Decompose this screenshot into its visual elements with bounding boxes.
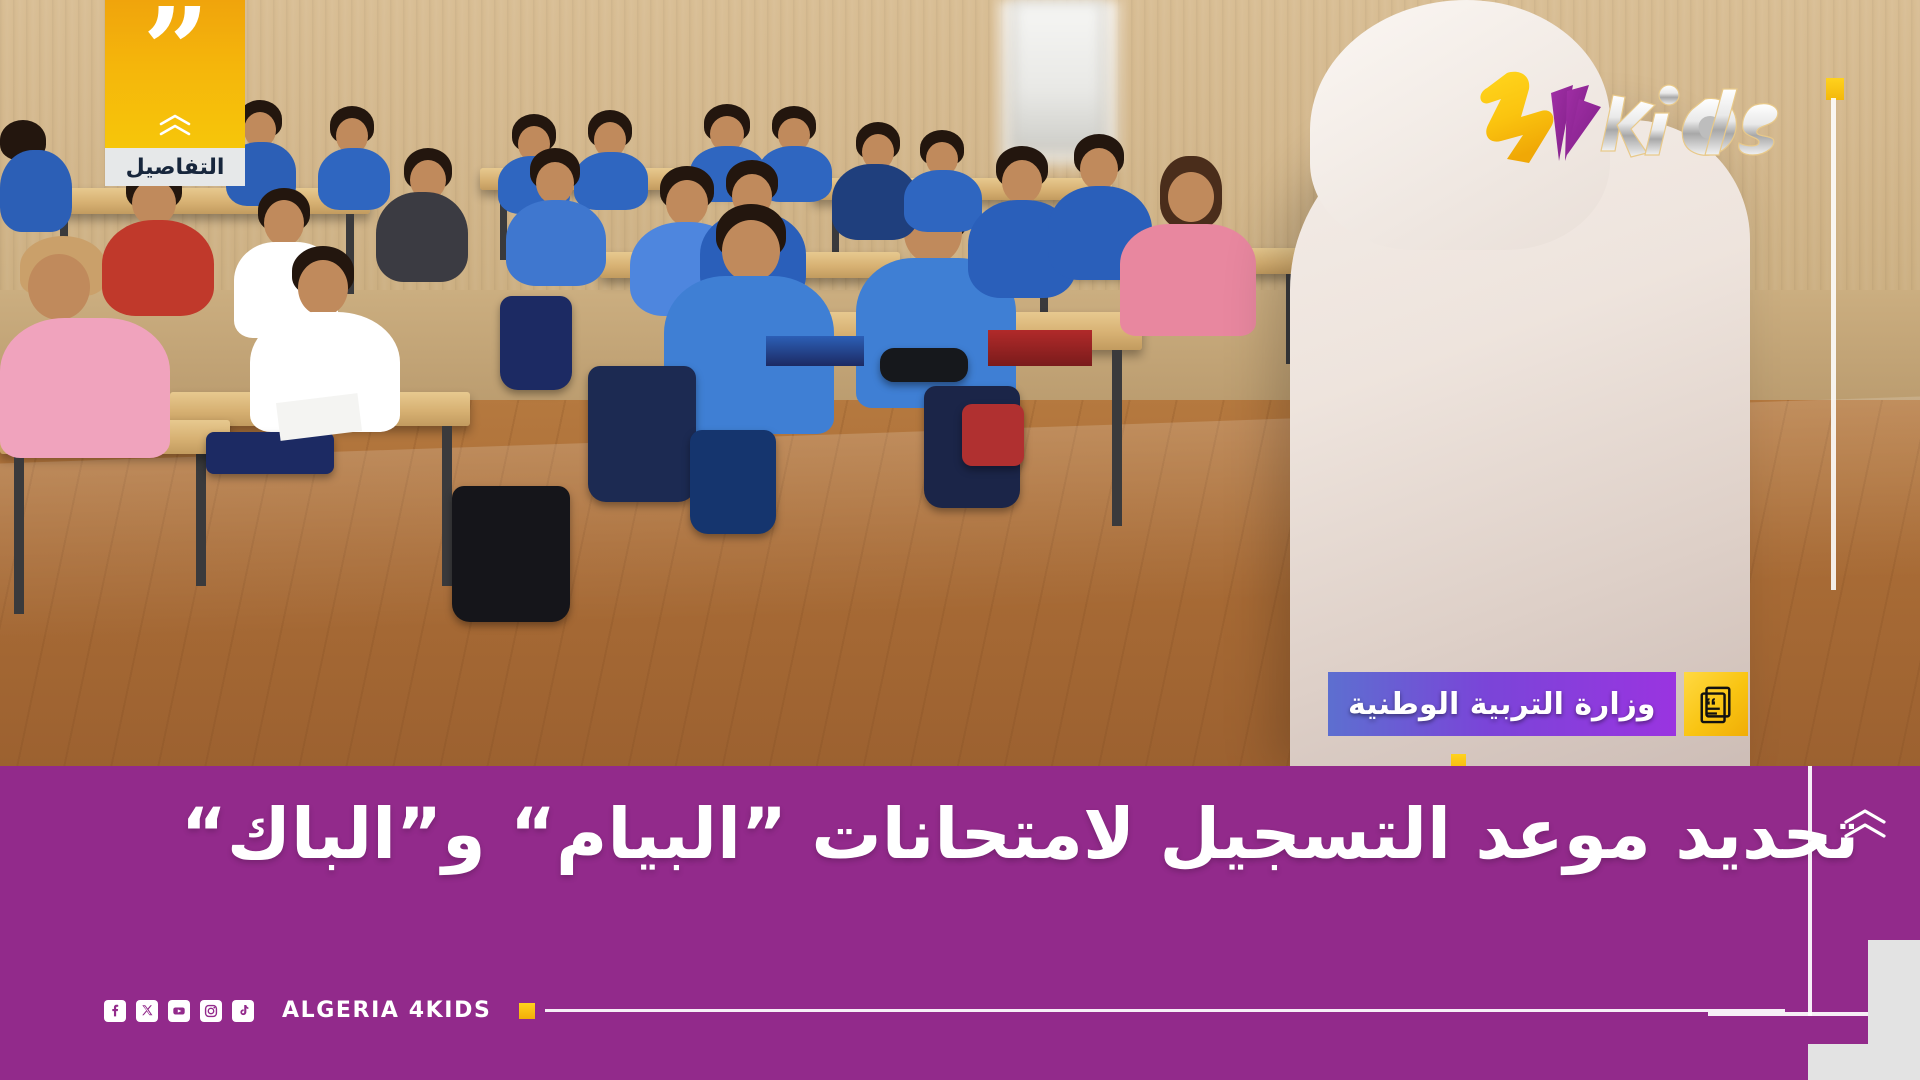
student [102,220,214,316]
student [1080,148,1118,190]
student [574,152,648,210]
backpack [962,404,1024,466]
facebook-icon[interactable] [104,1000,126,1022]
student [264,200,304,246]
youtube-icon[interactable] [168,1000,190,1022]
window [1012,0,1104,150]
headline-banner: تحديد موعد التسجيل لامتحانات ”البيام“ و”… [0,766,1920,1080]
logo-ids-wordmark [1601,85,1778,157]
corner-block-lower [1808,1044,1920,1080]
tiktok-icon[interactable] [232,1000,254,1022]
documents-quote-icon [1684,672,1748,736]
logo-4-glyph [1480,72,1553,163]
details-badge[interactable]: ” التفاصيل [105,0,245,186]
student [0,318,170,458]
student [28,254,90,320]
backpack [452,486,570,622]
right-rule-cap [1826,78,1844,100]
x-twitter-icon[interactable] [136,1000,158,1022]
pencil-case [206,432,334,474]
student [0,150,72,232]
footer-brand-text: ALGERIA 4KIDS [282,998,491,1023]
source-tag[interactable]: وزارة التربية الوطنية [1328,672,1748,736]
backpack [588,366,696,502]
headline-text: تحديد موعد التسجيل لامتحانات ”البيام“ و”… [180,792,1860,877]
student [1168,172,1214,222]
footer-rule [545,1009,1785,1012]
student [1120,224,1256,336]
details-label: التفاصيل [105,148,245,186]
student [298,260,348,316]
double-chevron-up-icon [158,114,192,136]
backpack [500,296,572,390]
backpack [690,430,776,534]
student [1002,160,1042,204]
4kids-logo-mark [1455,55,1785,170]
documents-icon-glyph [1697,683,1735,725]
student [318,148,390,210]
instagram-icon[interactable] [200,1000,222,1022]
quote-icon: ” [143,6,208,96]
book [766,336,864,366]
banner-vertical-rule [1808,766,1812,1016]
student [536,162,574,204]
desk-leg [14,454,24,614]
4kids-logo [1455,55,1785,170]
news-graphic-card: ” التفاصيل [0,0,1920,1080]
social-bar: ALGERIA 4KIDS [104,998,1785,1023]
magazine [988,330,1092,366]
footer-accent-square [519,1003,535,1019]
student [904,170,982,232]
quote-box: ” [105,0,245,148]
pencil-case [880,348,968,382]
source-tag-label: وزارة التربية الوطنية [1328,672,1676,736]
student [722,220,780,282]
student [506,200,606,286]
double-chevron-up-icon[interactable] [1842,808,1888,840]
student [376,192,468,282]
desk-leg [442,426,452,586]
desk-leg [1112,350,1122,526]
student [666,180,708,226]
right-vertical-rule [1831,98,1836,590]
